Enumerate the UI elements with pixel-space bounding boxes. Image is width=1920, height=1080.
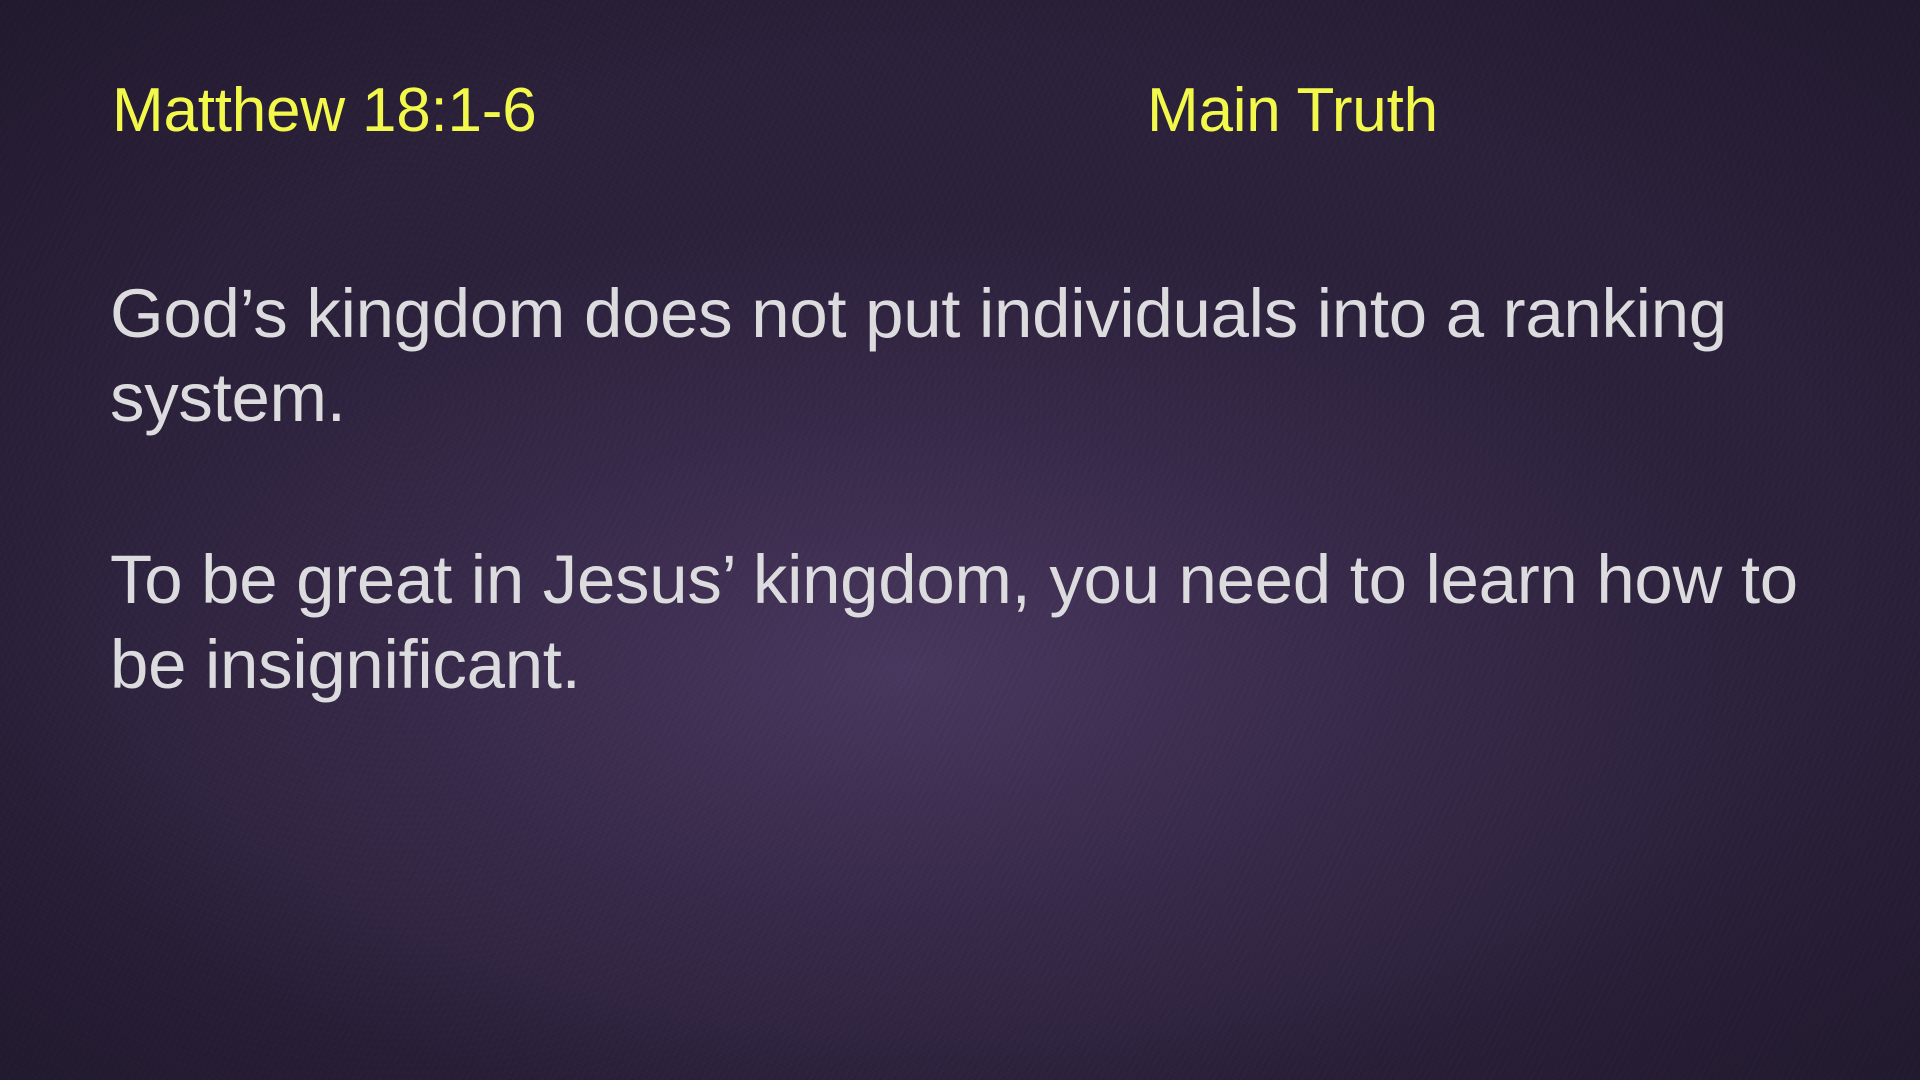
- body-paragraph-2: To be great in Jesus’ kingdom, you need …: [110, 538, 1850, 706]
- topic-heading: Main Truth: [1147, 78, 1438, 144]
- scripture-reference-heading: Matthew 18:1-6: [112, 78, 537, 144]
- slide-body: God’s kingdom does not put individuals i…: [110, 272, 1850, 707]
- body-paragraph-1: God’s kingdom does not put individuals i…: [110, 272, 1850, 440]
- slide-header: Matthew 18:1-6 Main Truth: [112, 78, 1808, 144]
- slide-content: Matthew 18:1-6 Main Truth God’s kingdom …: [0, 0, 1920, 1080]
- presentation-slide: Matthew 18:1-6 Main Truth God’s kingdom …: [0, 0, 1920, 1080]
- paragraph-spacer: [110, 440, 1850, 538]
